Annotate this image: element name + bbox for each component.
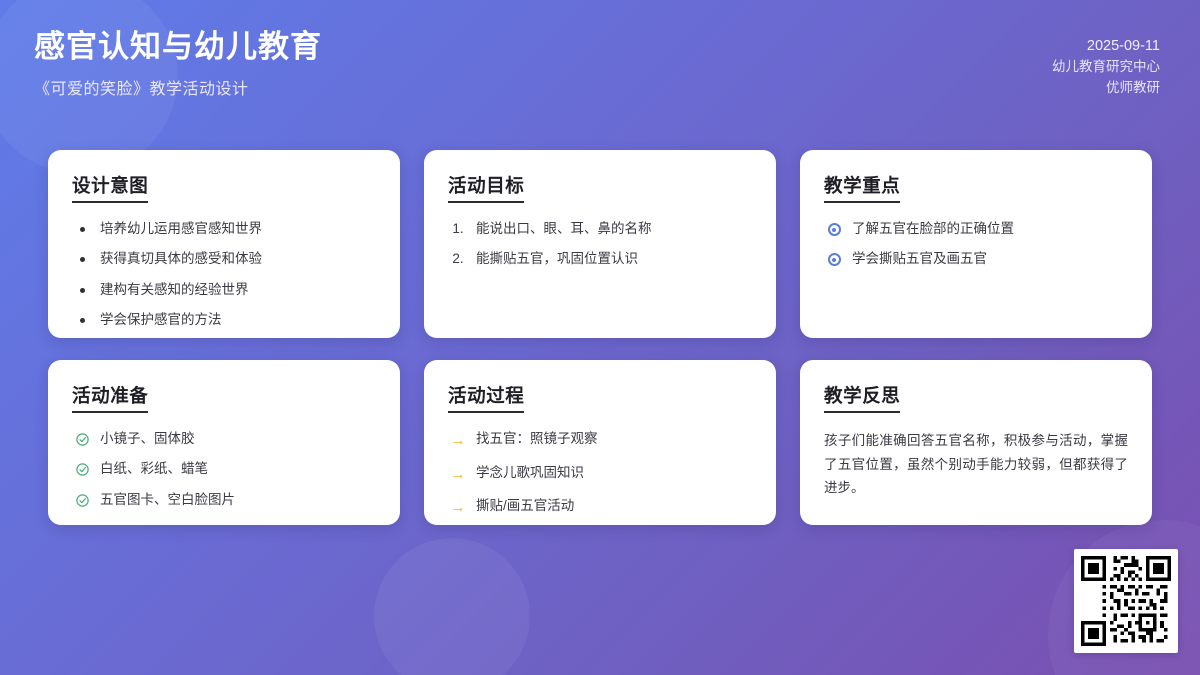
card-list: 1. 能说出口、眼、耳、鼻的名称 2. 能撕贴五官，巩固位置认识: [448, 219, 752, 270]
list-item-label: 找五官：照镜子观察: [476, 429, 598, 449]
list-item: → 撕贴/画五官活动: [448, 496, 752, 520]
card-activity-goals: 活动目标 1. 能说出口、眼、耳、鼻的名称 2. 能撕贴五官，巩固位置认识: [424, 150, 776, 338]
arrow-right-icon: →: [448, 497, 468, 520]
header-organization: 幼儿教育研究中心: [1052, 57, 1160, 78]
card-list: → 找五官：照镜子观察 → 学念儿歌巩固知识 → 撕贴/画五官活动: [448, 429, 752, 520]
card-title: 活动目标: [448, 172, 524, 203]
list-item-label: 学会撕贴五官及画五官: [852, 249, 987, 269]
card-title: 教学重点: [824, 172, 900, 203]
header-date: 2025-09-11: [1052, 35, 1160, 57]
list-item: 1. 能说出口、眼、耳、鼻的名称: [448, 219, 752, 239]
slide-root: 感官认知与幼儿教育 《可爱的笑脸》教学活动设计 2025-09-11 幼儿教育研…: [0, 0, 1200, 675]
card-teaching-focus: 教学重点 了解五官在脸部的正确位置 学会撕贴五官及画五官: [800, 150, 1152, 338]
card-list: 培养幼儿运用感官感知世界 获得真切具体的感受和体验 建构有关感知的经验世界 学会…: [72, 219, 376, 330]
list-item-label: 建构有关感知的经验世界: [100, 280, 249, 300]
card-title: 活动准备: [72, 382, 148, 413]
list-item-label: 了解五官在脸部的正确位置: [852, 219, 1014, 239]
list-item: 白纸、彩纸、蜡笔: [72, 459, 376, 479]
list-item: → 学念儿歌巩固知识: [448, 463, 752, 487]
page-title: 感官认知与幼儿教育: [34, 28, 322, 66]
check-circle-icon: [72, 429, 92, 447]
card-list: 小镜子、固体胶 白纸、彩纸、蜡笔 五: [72, 429, 376, 510]
list-item: 了解五官在脸部的正确位置: [824, 219, 1128, 239]
decorative-circle-bottom-center: [374, 538, 530, 675]
bullseye-icon: [824, 249, 844, 266]
bullet-dot-icon: [72, 219, 92, 232]
list-item-label: 能撕贴五官，巩固位置认识: [476, 249, 638, 269]
arrow-right-icon: →: [448, 430, 468, 453]
card-activity-process: 活动过程 → 找五官：照镜子观察 → 学念儿歌巩固知识 → 撕贴/画五官活动: [424, 360, 776, 525]
card-design-intent: 设计意图 培养幼儿运用感官感知世界 获得真切具体的感受和体验 建构有关感知的经验…: [48, 150, 400, 338]
card-title: 活动过程: [448, 382, 524, 413]
list-item-label: 白纸、彩纸、蜡笔: [100, 459, 208, 479]
header-meta-group: 2025-09-11 幼儿教育研究中心 优师教研: [1052, 22, 1160, 99]
bullseye-icon: [824, 219, 844, 236]
header-left-group: 感官认知与幼儿教育 《可爱的笑脸》教学活动设计: [34, 22, 322, 99]
list-item-label: 学会保护感官的方法: [100, 310, 222, 330]
list-number: 1.: [448, 219, 468, 239]
qr-code-icon: [1081, 556, 1171, 646]
list-item: 获得真切具体的感受和体验: [72, 249, 376, 269]
list-item: 建构有关感知的经验世界: [72, 280, 376, 300]
page-subtitle: 《可爱的笑脸》教学活动设计: [34, 75, 322, 99]
list-item: 培养幼儿运用感官感知世界: [72, 219, 376, 239]
card-activity-preparation: 活动准备 小镜子、固体胶 白纸、彩纸、蜡: [48, 360, 400, 525]
list-item-label: 能说出口、眼、耳、鼻的名称: [476, 219, 652, 239]
slide-header: 感官认知与幼儿教育 《可爱的笑脸》教学活动设计 2025-09-11 幼儿教育研…: [0, 0, 1200, 130]
header-unit: 优师教研: [1052, 78, 1160, 99]
list-item-label: 学念儿歌巩固知识: [476, 463, 584, 483]
bullet-dot-icon: [72, 310, 92, 323]
bullet-dot-icon: [72, 249, 92, 262]
reflection-paragraph: 孩子们能准确回答五官名称，积极参与活动，掌握了五官位置，虽然个别动手能力较弱，但…: [824, 429, 1128, 500]
list-item: 学会保护感官的方法: [72, 310, 376, 330]
card-title: 教学反思: [824, 382, 900, 413]
list-number: 2.: [448, 249, 468, 269]
list-item: 学会撕贴五官及画五官: [824, 249, 1128, 269]
list-item-label: 获得真切具体的感受和体验: [100, 249, 262, 269]
list-item: 2. 能撕贴五官，巩固位置认识: [448, 249, 752, 269]
card-grid: 设计意图 培养幼儿运用感官感知世界 获得真切具体的感受和体验 建构有关感知的经验…: [48, 150, 1152, 525]
bullet-dot-icon: [72, 280, 92, 293]
list-item: 小镜子、固体胶: [72, 429, 376, 449]
card-list: 了解五官在脸部的正确位置 学会撕贴五官及画五官: [824, 219, 1128, 270]
list-item-label: 培养幼儿运用感官感知世界: [100, 219, 262, 239]
list-item: 五官图卡、空白脸图片: [72, 490, 376, 510]
check-circle-icon: [72, 459, 92, 477]
list-item-label: 小镜子、固体胶: [100, 429, 195, 449]
list-item-label: 五官图卡、空白脸图片: [100, 490, 235, 510]
card-title: 设计意图: [72, 172, 148, 203]
list-item-label: 撕贴/画五官活动: [476, 496, 574, 516]
qr-code[interactable]: [1074, 549, 1178, 653]
check-circle-icon: [72, 490, 92, 508]
arrow-right-icon: →: [448, 464, 468, 487]
list-item: → 找五官：照镜子观察: [448, 429, 752, 453]
card-teaching-reflection: 教学反思 孩子们能准确回答五官名称，积极参与活动，掌握了五官位置，虽然个别动手能…: [800, 360, 1152, 525]
